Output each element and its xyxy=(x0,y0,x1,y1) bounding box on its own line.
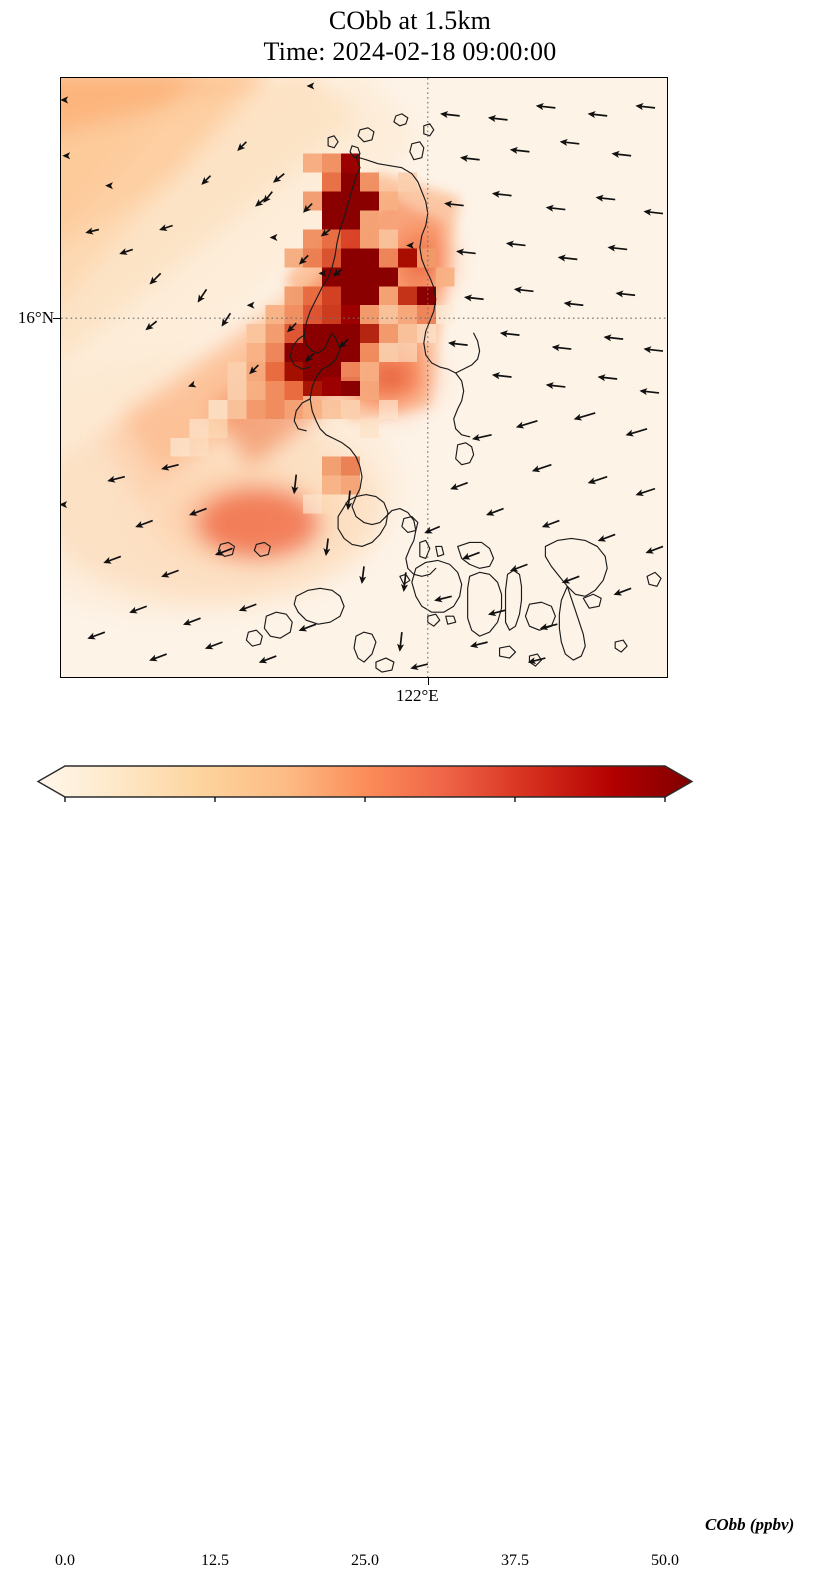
figure-title-block: CObb at 1.5km Time: 2024-02-18 09:00:00 xyxy=(0,6,820,67)
colorbar-tick-3: 37.5 xyxy=(501,1552,529,1570)
figure-timestamp: Time: 2024-02-18 09:00:00 xyxy=(0,37,820,68)
colorbar-gradient xyxy=(0,752,820,839)
colorbar-tick-1: 12.5 xyxy=(201,1552,229,1570)
page-title: CObb at 1.5km xyxy=(0,6,820,37)
map-plot-area[interactable] xyxy=(60,77,668,678)
colorbar-tick-0: 0.0 xyxy=(55,1552,75,1570)
wind-vector-overlay xyxy=(61,78,667,677)
colorbar-title: CObb (ppbv) xyxy=(705,1515,794,1535)
x-tick-label-122e: 122°E xyxy=(396,686,439,706)
colorbar-tick-2: 25.0 xyxy=(351,1552,379,1570)
x-tick-mark-122e xyxy=(428,678,429,685)
y-tick-label-16n: 16°N xyxy=(18,308,54,328)
y-tick-mark-16n xyxy=(53,318,60,319)
colorbar-tick-4: 50.0 xyxy=(651,1552,679,1570)
colorbar[interactable]: 0.0 12.5 25.0 37.5 50.0 CObb (ppbv) xyxy=(0,752,820,839)
